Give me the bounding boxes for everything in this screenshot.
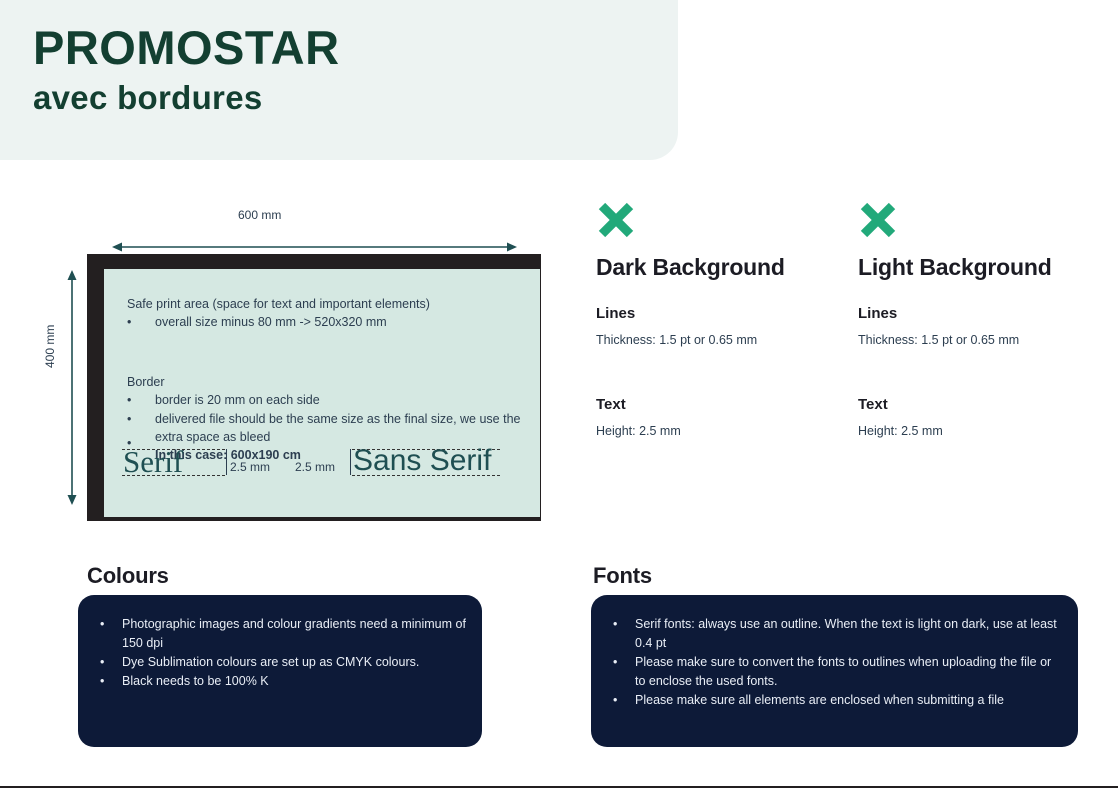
safe-area-text-block: Safe print area (space for text and impo…: [127, 295, 527, 464]
sans-measure-tick: [350, 449, 351, 475]
x-mark-icon: [858, 200, 898, 240]
lines-thickness-value: Thickness: 1.5 pt or 0.65 mm: [858, 333, 1108, 347]
bullet-icon: •: [100, 615, 122, 653]
bullet-icon: •: [613, 691, 635, 710]
list-item: • Dye Sublimation colours are set up as …: [100, 653, 466, 672]
text-heading: Text: [858, 396, 1108, 413]
list-item-label: Serif fonts: always use an outline. When…: [635, 615, 1062, 653]
dimension-arrow-vertical: [66, 270, 78, 505]
text-height-value: Height: 2.5 mm: [858, 424, 1108, 438]
list-item: • Serif fonts: always use an outline. Wh…: [613, 615, 1062, 653]
list-item-label: Please make sure to convert the fonts to…: [635, 653, 1062, 691]
dimension-label-height: 400 mm: [43, 325, 57, 368]
lines-heading: Lines: [858, 305, 1108, 322]
fonts-panel: • Serif fonts: always use an outline. Wh…: [591, 595, 1078, 747]
bullet-icon: •: [127, 391, 155, 409]
dimension-label-width: 600 mm: [238, 208, 281, 222]
bullet-icon: •: [100, 653, 122, 672]
colours-panel-list: • Photographic images and colour gradien…: [100, 615, 466, 691]
colours-panel-title: Colours: [87, 563, 169, 589]
bullet-icon: •: [613, 653, 635, 691]
serif-measure-label: 2.5 mm: [230, 460, 270, 474]
x-mark-icon: [596, 200, 636, 240]
spec-column-light-background: Light Background Lines Thickness: 1.5 pt…: [858, 200, 1108, 438]
footer-divider: [0, 786, 1118, 788]
list-item-label: Photographic images and colour gradients…: [122, 615, 466, 653]
list-item: • Black needs to be 100% K: [100, 672, 466, 691]
list-item-label: border is 20 mm on each side: [155, 391, 527, 409]
dimension-arrow-horizontal: [112, 241, 517, 253]
list-item: • Please make sure to convert the fonts …: [613, 653, 1062, 691]
list-item: • border is 20 mm on each side: [127, 391, 527, 409]
safe-area-heading: Safe print area (space for text and impo…: [127, 295, 527, 313]
sans-serif-sample-label: Sans Serif: [353, 446, 491, 476]
list-item-label: Please make sure all elements are enclos…: [635, 691, 1062, 710]
fonts-panel-title: Fonts: [593, 563, 652, 589]
spec-column-heading: Dark Background: [596, 254, 846, 281]
serif-measure-tick: [226, 449, 227, 475]
text-heading: Text: [596, 396, 846, 413]
list-item: • Photographic images and colour gradien…: [100, 615, 466, 653]
lines-heading: Lines: [596, 305, 846, 322]
spec-column-dark-background: Dark Background Lines Thickness: 1.5 pt …: [596, 200, 846, 438]
spacer: [127, 331, 527, 373]
list-item-label: overall size minus 80 mm -> 520x320 mm: [155, 313, 527, 331]
sans-measure-label: 2.5 mm: [295, 460, 335, 474]
bullet-icon: •: [613, 615, 635, 653]
list-item: • Please make sure all elements are encl…: [613, 691, 1062, 710]
list-item: • overall size minus 80 mm -> 520x320 mm: [127, 313, 527, 331]
spec-column-heading: Light Background: [858, 254, 1108, 281]
page-subtitle: avec bordures: [33, 80, 263, 116]
bullet-icon: •: [100, 672, 122, 691]
page-title: PROMOSTAR: [33, 23, 340, 74]
colours-panel: • Photographic images and colour gradien…: [78, 595, 482, 747]
list-item-label: Black needs to be 100% K: [122, 672, 466, 691]
serif-sample-label: Serif: [123, 446, 183, 477]
text-height-value: Height: 2.5 mm: [596, 424, 846, 438]
fonts-panel-list: • Serif fonts: always use an outline. Wh…: [613, 615, 1062, 710]
font-specimen-row: • Serif 2.5 mm 2.5 mm Sans Serif: [110, 440, 520, 488]
list-item-label: Dye Sublimation colours are set up as CM…: [122, 653, 466, 672]
lines-thickness-value: Thickness: 1.5 pt or 0.65 mm: [596, 333, 846, 347]
border-heading: Border: [127, 373, 527, 391]
bullet-icon: •: [127, 313, 155, 331]
